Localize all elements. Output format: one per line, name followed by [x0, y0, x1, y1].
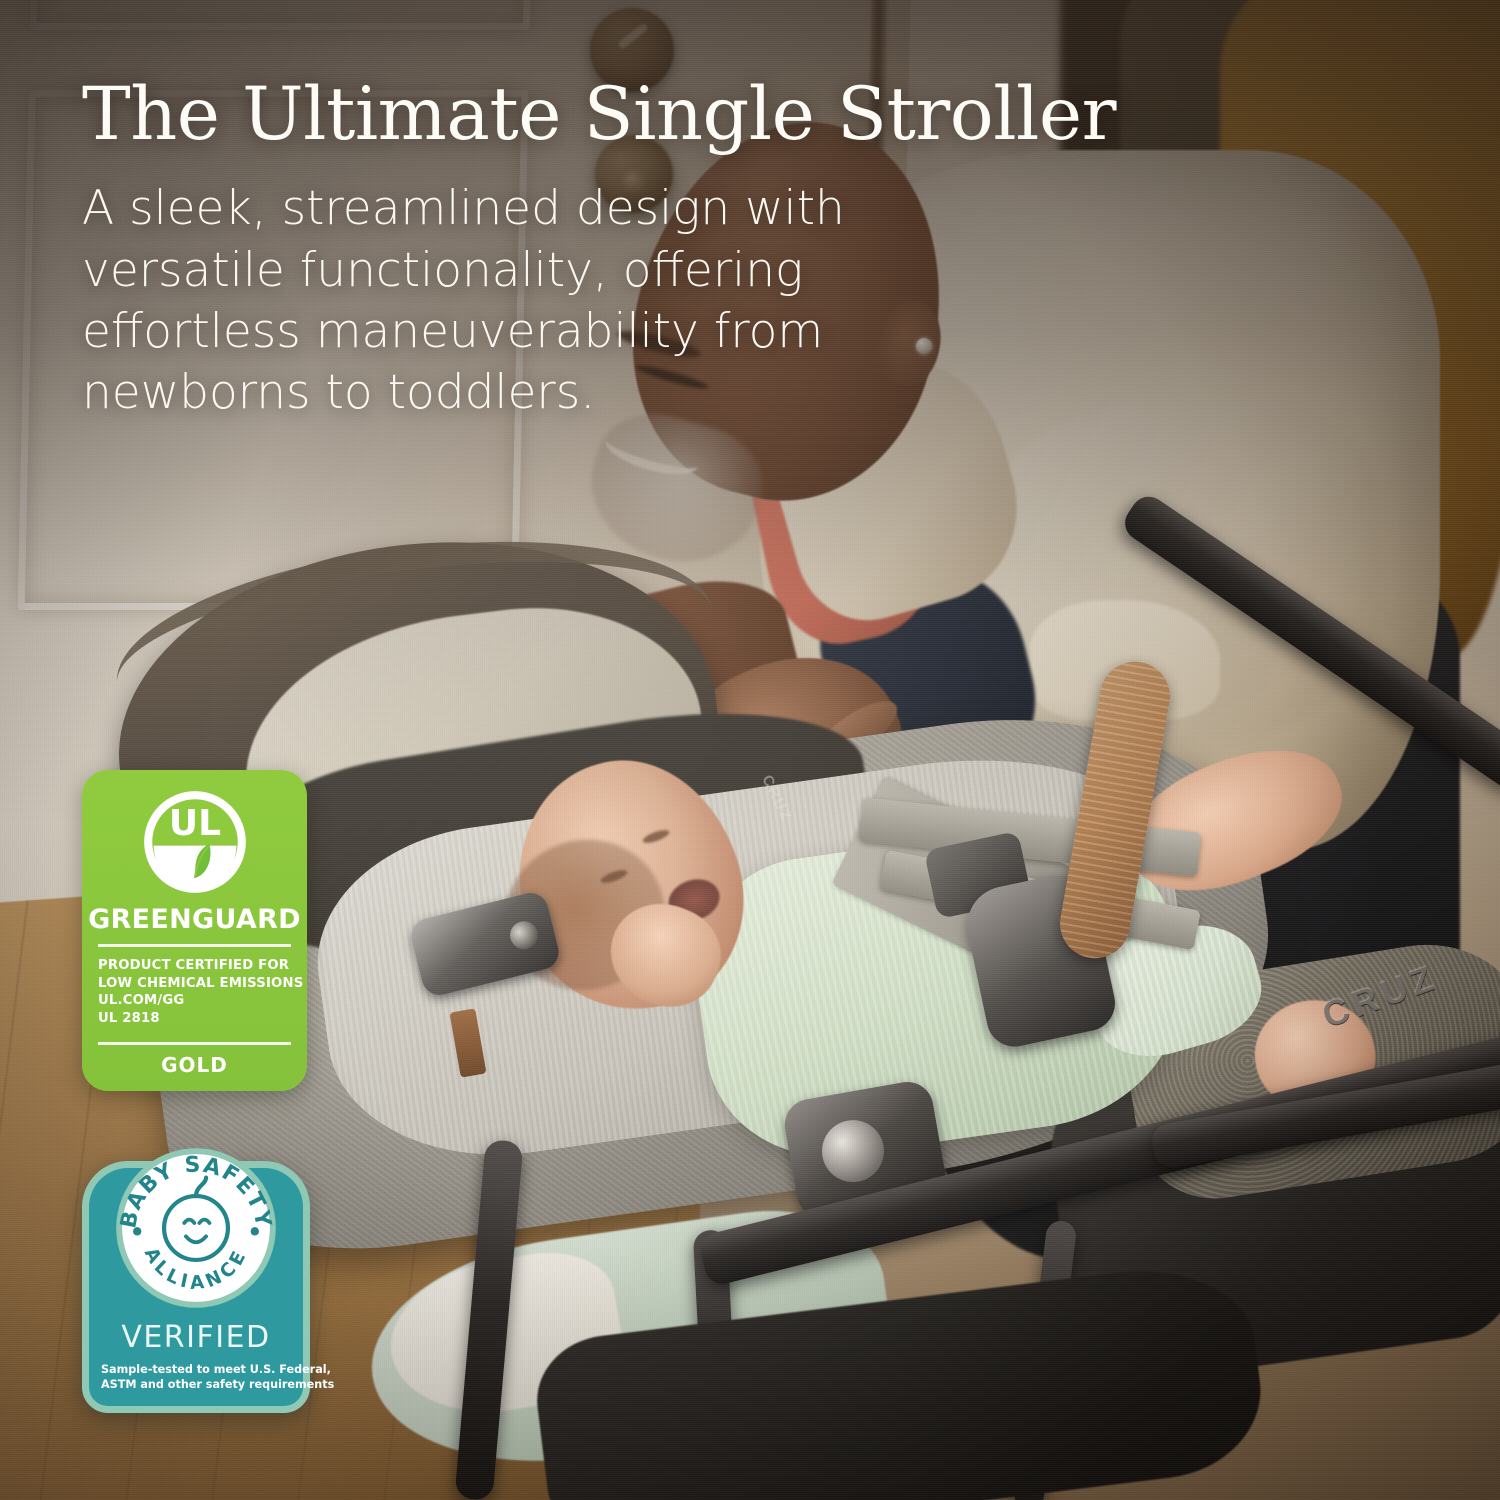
greenguard-detail-line: LOW CHEMICAL EMISSIONS	[98, 975, 291, 993]
subheadline-line: A sleek, streamlined design with	[82, 178, 912, 239]
greenguard-detail-line: PRODUCT CERTIFIED FOR	[98, 957, 291, 975]
baby-safety-note-line: ASTM and other safety requirements	[101, 1377, 291, 1392]
marketing-copy-block: The Ultimate Single Stroller A sleek, st…	[82, 78, 1262, 423]
baby-safety-alliance-seal-icon: BABY SAFETY ALLIANCE	[89, 1144, 303, 1312]
certification-badges: UL GREENGUARD PRODUCT CERTIFIED FOR LOW …	[82, 770, 310, 1413]
greenguard-badge: UL GREENGUARD PRODUCT CERTIFIED FOR LOW …	[82, 770, 307, 1091]
greenguard-details: PRODUCT CERTIFIED FOR LOW CHEMICAL EMISS…	[82, 947, 307, 1036]
subheadline-line: versatile functionality, offering	[82, 240, 912, 301]
door-panel-upper	[30, 0, 536, 30]
product-marketing-image: CRUZ CRUZ The Ultimate Single Stroller A…	[0, 0, 1500, 1500]
svg-text:UL: UL	[168, 803, 220, 844]
baby-safety-note-line: Sample-tested to meet U.S. Federal,	[101, 1362, 291, 1377]
subheadline-line: newborns to toddlers.	[82, 362, 912, 423]
greenguard-title: GREENGUARD	[82, 904, 307, 935]
baby-safety-status: VERIFIED	[89, 1320, 303, 1355]
page-title: The Ultimate Single Stroller	[82, 78, 1262, 152]
baby-safety-alliance-badge: BABY SAFETY ALLIANCE VERIFIED Sample-tes…	[82, 1161, 310, 1413]
baby-safety-note: Sample-tested to meet U.S. Federal, ASTM…	[89, 1355, 303, 1392]
greenguard-detail-line: UL 2818	[98, 1010, 291, 1028]
subheadline-line: effortless maneuverability from	[82, 301, 912, 362]
greenguard-level: GOLD	[82, 1045, 307, 1091]
greenguard-detail-line: UL.COM/GG	[98, 992, 291, 1010]
subheadline: A sleek, streamlined design with versati…	[82, 178, 912, 422]
ul-greenguard-icon: UL	[82, 788, 307, 896]
